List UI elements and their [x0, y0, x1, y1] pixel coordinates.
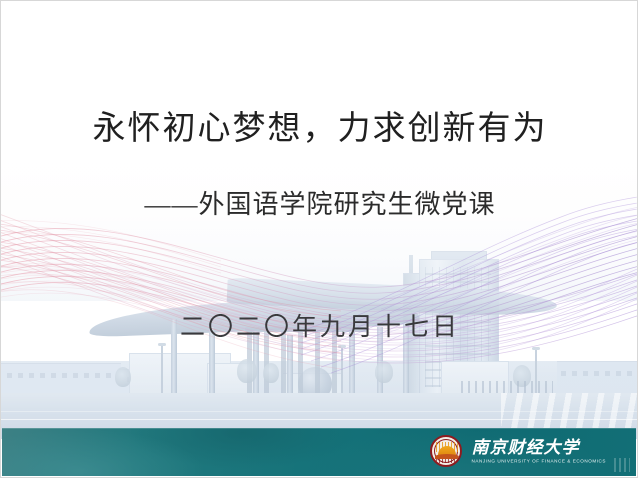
university-logo-text: 南京财经大学 NANJING UNIVERSITY OF FINANCE & E…: [471, 438, 606, 464]
tree: [263, 363, 279, 383]
street-lamp: [341, 347, 343, 395]
campus-gate-photo: [1, 1, 637, 477]
crosswalk-marking: [501, 393, 637, 433]
street-lamp-head: [338, 345, 346, 348]
slide-date: 二〇二〇年九月十七日: [1, 307, 638, 343]
university-seal-icon: [430, 435, 462, 467]
presentation-slide: 永怀初心梦想，力求创新有为 ——外国语学院研究生微党课 二〇二〇年九月十七日 南…: [0, 0, 638, 478]
slide-footer-bar: 南京财经大学 NANJING UNIVERSITY OF FINANCE & E…: [2, 428, 636, 476]
low-building: [557, 361, 637, 394]
street-lamp: [161, 345, 163, 395]
tree: [375, 361, 393, 383]
university-name-en: NANJING UNIVERSITY OF FINANCE & ECONOMIC…: [471, 457, 606, 464]
tree: [237, 359, 257, 383]
building-windows: [7, 373, 115, 378]
corner-decoration-icon: [614, 458, 630, 472]
slide-title: 永怀初心梦想，力求创新有为: [1, 101, 638, 149]
building-windows: [561, 371, 635, 376]
low-building: [1, 363, 121, 394]
sky-gradient: [1, 1, 637, 301]
seal-base-text: [436, 459, 458, 463]
tower-mast: [409, 255, 413, 275]
university-logo: 南京财经大学 NANJING UNIVERSITY OF FINANCE & E…: [430, 435, 606, 467]
canopy-pillar: [287, 335, 293, 395]
slide-subtitle: ——外国语学院研究生微党课: [1, 184, 638, 221]
footer-top-highlight: [2, 428, 636, 429]
street-lamp-head: [158, 343, 166, 346]
university-name-cn: 南京财经大学: [471, 438, 606, 457]
street-lamp-head: [532, 347, 540, 350]
plaza-railing: [461, 381, 553, 393]
tree: [115, 367, 131, 387]
